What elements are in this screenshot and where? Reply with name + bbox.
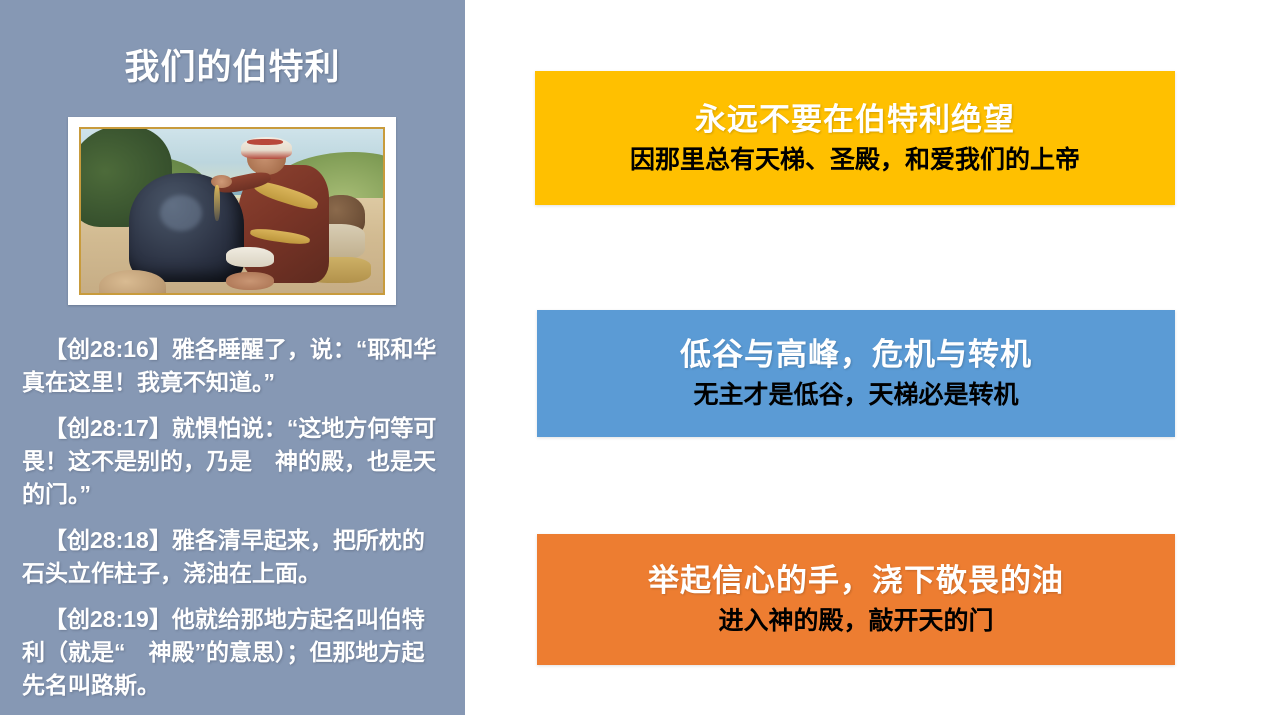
illustration-poured-oil <box>214 185 220 221</box>
scripture-illustration-frame <box>68 117 396 305</box>
page-title: 我们的伯特利 <box>0 47 465 89</box>
message-box-headline: 低谷与高峰，危机与转机 <box>680 335 1032 375</box>
scripture-verse: 【创28:18】雅各清早起来，把所枕的石头立作柱子，浇油在上面。 <box>22 524 446 590</box>
message-box-headline: 举起信心的手，浇下敬畏的油 <box>648 561 1064 601</box>
scripture-text-block: 【创28:16】雅各睡醒了，说：“耶和华真在这里！我竟不知道。” 【创28:17… <box>22 333 446 715</box>
illustration-white-cloth <box>226 247 274 267</box>
illustration-foreground-rock <box>99 270 165 295</box>
message-box-subline: 无主才是低谷，天梯必是转机 <box>693 377 1018 413</box>
illustration-stone-highlight <box>160 195 202 231</box>
message-box-faith-oil: 举起信心的手，浇下敬畏的油 进入神的殿，敲开天的门 <box>537 534 1175 665</box>
message-box-subline: 进入神的殿，敲开天的门 <box>718 603 993 639</box>
scripture-verse: 【创28:16】雅各睡醒了，说：“耶和华真在这里！我竟不知道。” <box>22 333 446 399</box>
message-box-valley-peak: 低谷与高峰，危机与转机 无主才是低谷，天梯必是转机 <box>537 310 1175 437</box>
illustration-jacob-foot <box>226 272 274 290</box>
illustration-jacob-hand <box>211 175 232 188</box>
scripture-verse: 【创28:19】他就给那地方起名叫伯特利（就是“ 神殿”的意思）；但那地方起先名… <box>22 603 446 702</box>
message-box-headline: 永远不要在伯特利绝望 <box>695 100 1015 140</box>
sidebar-panel: 我们的伯特利 【创28:16 <box>0 0 465 715</box>
scripture-verse: 【创28:17】就惧怕说：“这地方何等可畏！这不是别的，乃是 神的殿，也是天的门… <box>22 412 446 511</box>
jacob-anointing-pillar-icon <box>79 127 385 295</box>
message-box-hope: 永远不要在伯特利绝望 因那里总有天梯、圣殿，和爱我们的上帝 <box>535 71 1175 205</box>
message-box-subline: 因那里总有天梯、圣殿，和爱我们的上帝 <box>630 142 1080 178</box>
